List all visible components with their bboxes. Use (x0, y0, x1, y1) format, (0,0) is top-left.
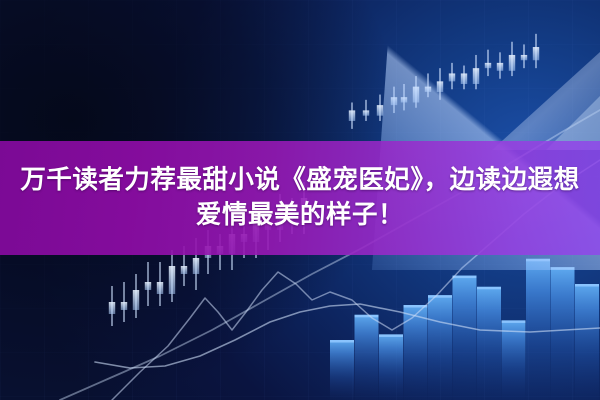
bar (575, 284, 599, 400)
candle-body (363, 110, 369, 115)
candle-body (145, 282, 151, 290)
candle-body (533, 47, 539, 60)
candle-body (391, 97, 397, 105)
candle-body (461, 73, 467, 84)
bar (453, 276, 477, 400)
candle-body (437, 81, 443, 92)
candle-body (157, 282, 163, 294)
bar (477, 287, 501, 400)
bar (404, 305, 428, 400)
candle-body (193, 258, 199, 274)
candle-body (497, 63, 503, 71)
candlestick-upper-group (349, 34, 539, 129)
bar (551, 267, 575, 400)
headline-banner: 万千读者力荐最甜小说《盛宠医妃》，边读边遐想 爱情最美的样子！ (0, 141, 600, 255)
candle-body (413, 87, 419, 103)
candle-body (449, 73, 455, 81)
bar (355, 315, 379, 400)
candle-body (133, 290, 139, 310)
candle-body (521, 55, 527, 60)
candle-body (485, 63, 491, 68)
bar (379, 334, 403, 400)
bar-chart-group (330, 259, 599, 400)
bar (428, 295, 452, 400)
headline-line-1: 万千读者力荐最甜小说《盛宠医妃》，边读边遐想 (20, 163, 579, 198)
candle-body (377, 105, 383, 116)
candle-body (349, 110, 355, 121)
candle-body (509, 55, 515, 71)
promo-banner-image: 万千读者力荐最甜小说《盛宠医妃》，边读边遐想 爱情最美的样子！ (0, 0, 600, 400)
candle-body (425, 87, 431, 92)
candle-body (401, 97, 407, 102)
candle-body (181, 266, 187, 274)
bar (526, 259, 550, 400)
candle-body (121, 302, 127, 310)
candle-body (109, 302, 115, 314)
candle-body (473, 68, 479, 84)
candle-body (169, 266, 175, 294)
headline-line-2: 爱情最美的样子！ (196, 198, 404, 233)
bar (330, 340, 354, 400)
